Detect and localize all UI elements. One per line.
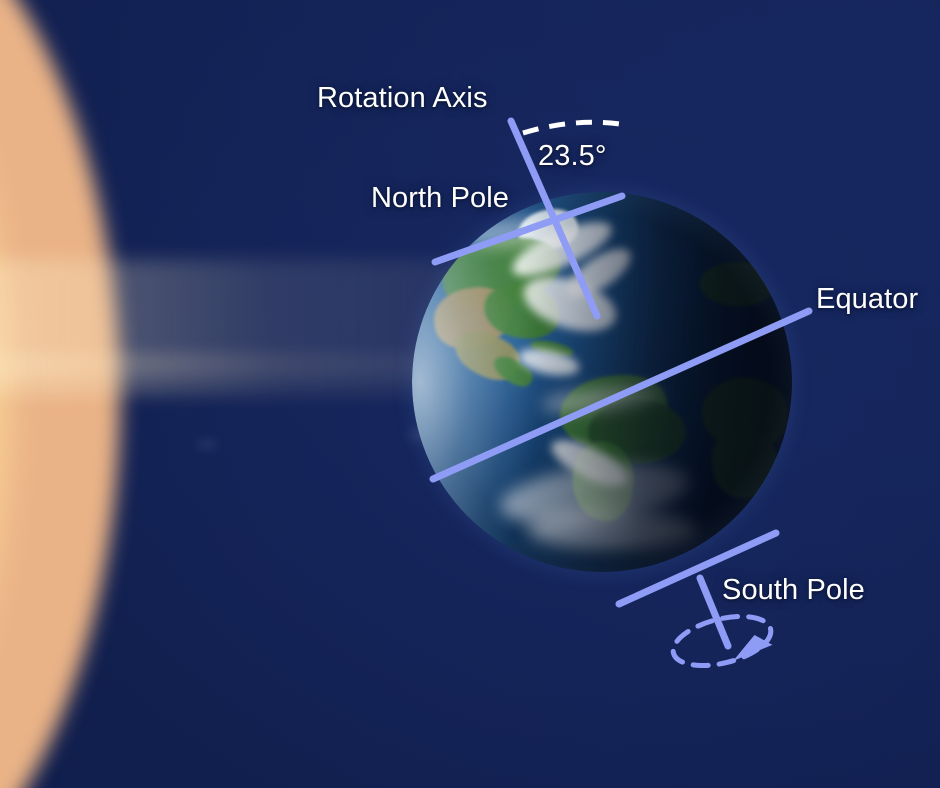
label-tilt-angle: 23.5° [538, 140, 607, 173]
earth-surface [412, 192, 792, 572]
earth-limb-highlight [412, 192, 792, 572]
earth-globe [412, 192, 792, 572]
label-north-pole: North Pole [371, 182, 509, 215]
label-equator: Equator [816, 283, 918, 316]
earth-tilt-diagram: Rotation Axis North Pole 23.5° Equator S… [0, 0, 940, 788]
label-south-pole: South Pole [722, 574, 865, 607]
lens-speck-3 [196, 440, 218, 449]
label-rotation-axis: Rotation Axis [317, 82, 488, 115]
